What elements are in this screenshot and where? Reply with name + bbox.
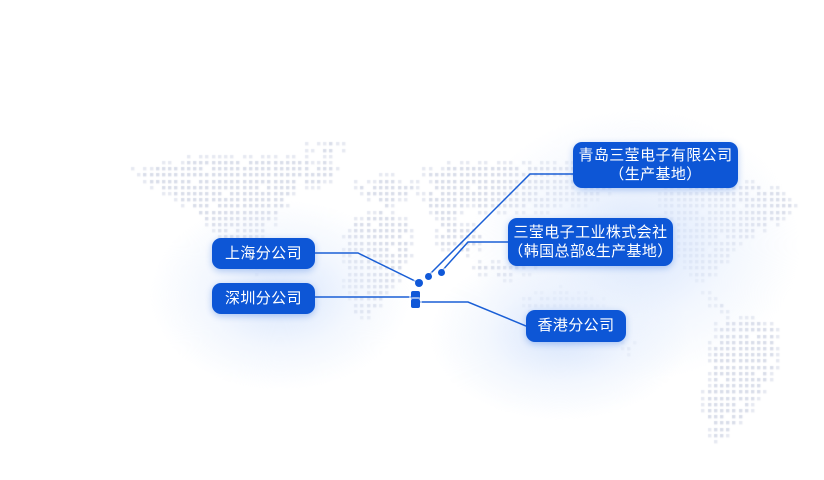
label-line-2: （韩国总部&生产基地） xyxy=(508,242,672,261)
map-stage: 青岛三莹电子有限公司 （生产基地） 三莹电子工业株式会社 （韩国总部&生产基地）… xyxy=(0,0,824,480)
map-marker-korea[interactable] xyxy=(438,269,445,276)
location-label-korea[interactable]: 三莹电子工业株式会社 （韩国总部&生产基地） xyxy=(508,218,673,266)
location-label-shanghai[interactable]: 上海分公司 xyxy=(212,238,315,269)
connector-hongkong xyxy=(415,302,526,326)
map-marker-qingdao[interactable] xyxy=(425,273,432,280)
label-line-1: 三莹电子工业株式会社 xyxy=(513,223,667,242)
map-marker-hongkong[interactable] xyxy=(411,299,420,308)
location-label-shenzhen[interactable]: 深圳分公司 xyxy=(212,283,315,314)
label-line-1: 上海分公司 xyxy=(225,244,302,263)
connector-lines xyxy=(0,0,824,480)
connector-korea xyxy=(441,242,508,272)
map-marker-shanghai[interactable] xyxy=(415,279,423,287)
label-line-1: 青岛三莹电子有限公司 xyxy=(578,146,732,165)
label-line-2: （生产基地） xyxy=(609,165,701,184)
location-label-qingdao[interactable]: 青岛三莹电子有限公司 （生产基地） xyxy=(573,142,738,188)
connector-shanghai xyxy=(315,253,419,283)
label-line-1: 深圳分公司 xyxy=(225,289,302,308)
label-line-1: 香港分公司 xyxy=(537,316,614,335)
location-label-hongkong[interactable]: 香港分公司 xyxy=(526,310,626,342)
